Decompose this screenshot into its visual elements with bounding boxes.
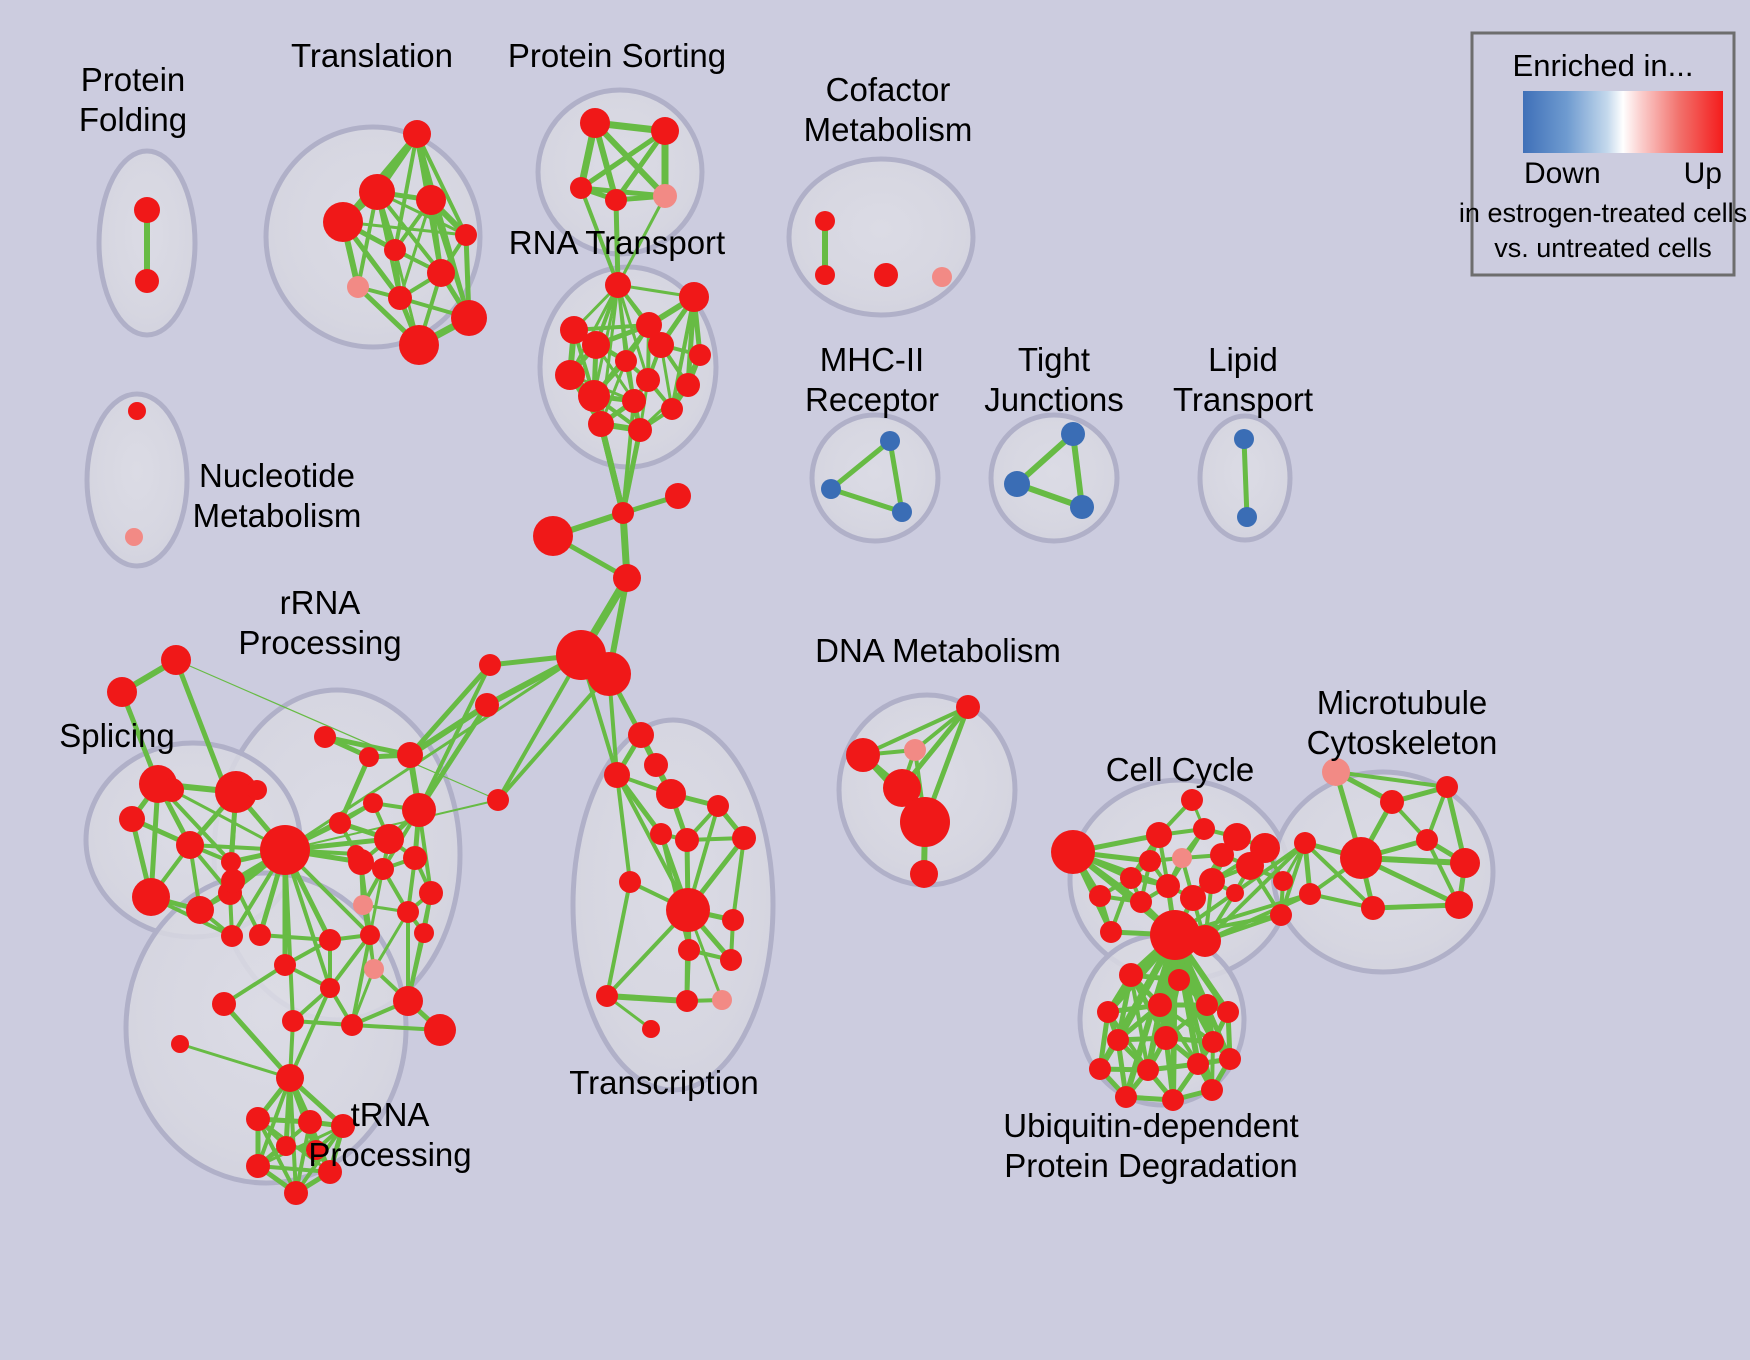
network-node[interactable] (1217, 1001, 1239, 1023)
network-node[interactable] (125, 528, 143, 546)
network-node[interactable] (582, 331, 610, 359)
network-node[interactable] (533, 516, 573, 556)
network-node[interactable] (956, 695, 980, 719)
network-node[interactable] (1100, 921, 1122, 943)
network-node[interactable] (628, 722, 654, 748)
network-node[interactable] (605, 272, 631, 298)
network-node[interactable] (1061, 422, 1085, 446)
legend-low-label: Down (1524, 157, 1601, 190)
network-node[interactable] (134, 197, 160, 223)
network-node[interactable] (821, 479, 841, 499)
cluster-label-translation: Translation (291, 37, 453, 74)
network-node[interactable] (1236, 852, 1264, 880)
network-node[interactable] (402, 793, 436, 827)
network-node[interactable] (1380, 790, 1404, 814)
cluster-label-dna-metabolism: DNA Metabolism (815, 632, 1061, 669)
network-node[interactable] (892, 502, 912, 522)
network-node[interactable] (212, 992, 236, 1016)
network-node[interactable] (319, 929, 341, 951)
network-node[interactable] (1097, 1001, 1119, 1023)
network-node[interactable] (1237, 507, 1257, 527)
network-node[interactable] (403, 120, 431, 148)
network-node[interactable] (1089, 885, 1111, 907)
network-node[interactable] (1201, 1079, 1223, 1101)
network-node[interactable] (1051, 830, 1095, 874)
network-node[interactable] (1115, 1086, 1137, 1108)
network-node[interactable] (1340, 837, 1382, 879)
network-node[interactable] (419, 881, 443, 905)
network-node[interactable] (363, 793, 383, 813)
network-node[interactable] (1146, 822, 1172, 848)
network-node[interactable] (815, 211, 835, 231)
network-node[interactable] (1107, 1029, 1129, 1051)
network-node[interactable] (712, 990, 732, 1010)
network-node[interactable] (171, 1035, 189, 1053)
network-node[interactable] (555, 360, 585, 390)
network-node[interactable] (648, 332, 674, 358)
network-node[interactable] (320, 978, 340, 998)
network-node[interactable] (1168, 969, 1190, 991)
network-node[interactable] (580, 108, 610, 138)
network-node[interactable] (880, 431, 900, 451)
network-node[interactable] (388, 286, 412, 310)
network-node[interactable] (676, 990, 698, 1012)
network-node[interactable] (587, 652, 631, 696)
network-node[interactable] (186, 896, 214, 924)
network-node[interactable] (249, 924, 271, 946)
network-node[interactable] (135, 269, 159, 293)
network-node[interactable] (132, 878, 170, 916)
network-node[interactable] (246, 1107, 270, 1131)
network-node[interactable] (707, 795, 729, 817)
network-node[interactable] (298, 1110, 322, 1134)
network-figure: ProteinFoldingTranslationProtein Sorting… (0, 0, 1750, 1360)
network-node[interactable] (1270, 904, 1292, 926)
network-node[interactable] (384, 239, 406, 261)
network-node[interactable] (284, 1181, 308, 1205)
network-node[interactable] (846, 738, 880, 772)
network-node[interactable] (619, 871, 641, 893)
network-node[interactable] (161, 645, 191, 675)
network-node[interactable] (644, 753, 668, 777)
network-node[interactable] (1130, 891, 1152, 913)
network-node[interactable] (678, 939, 700, 961)
network-node[interactable] (1193, 818, 1215, 840)
network-node[interactable] (347, 276, 369, 298)
network-node[interactable] (1137, 1059, 1159, 1081)
edge (1244, 439, 1247, 517)
network-node[interactable] (676, 373, 700, 397)
network-node[interactable] (260, 825, 310, 875)
cluster-label-transcription: Transcription (569, 1064, 759, 1101)
cluster-label-splicing: Splicing (59, 717, 175, 754)
network-node[interactable] (414, 923, 434, 943)
network-node[interactable] (650, 823, 672, 845)
network-node[interactable] (1219, 1048, 1241, 1070)
network-node[interactable] (615, 350, 637, 372)
network-node[interactable] (314, 726, 336, 748)
network-node[interactable] (397, 742, 423, 768)
network-node[interactable] (374, 824, 404, 854)
network-node[interactable] (653, 184, 677, 208)
network-node[interactable] (399, 325, 439, 365)
network-node[interactable] (1120, 867, 1142, 889)
network-node[interactable] (720, 949, 742, 971)
network-node[interactable] (874, 263, 898, 287)
network-node[interactable] (1226, 884, 1244, 902)
network-node[interactable] (416, 185, 446, 215)
legend-caption-line1: in estrogen-treated cells (1459, 198, 1747, 228)
network-node[interactable] (107, 677, 137, 707)
network-node[interactable] (1294, 832, 1316, 854)
network-node[interactable] (221, 869, 245, 893)
legend-caption-line2: vs. untreated cells (1494, 233, 1712, 263)
network-node[interactable] (904, 739, 926, 761)
network-node[interactable] (221, 852, 241, 872)
network-node[interactable] (570, 177, 592, 199)
network-node[interactable] (1004, 471, 1030, 497)
network-node[interactable] (372, 858, 394, 880)
network-node[interactable] (1202, 1031, 1224, 1053)
network-node[interactable] (353, 895, 373, 915)
legend-title: Enriched in... (1513, 48, 1694, 83)
network-node[interactable] (1234, 429, 1254, 449)
network-node[interactable] (636, 368, 660, 392)
network-node[interactable] (1210, 843, 1234, 867)
network-node[interactable] (359, 747, 379, 767)
network-node[interactable] (1089, 1058, 1111, 1080)
network-node[interactable] (1299, 883, 1321, 905)
network-node[interactable] (1445, 891, 1473, 919)
network-node[interactable] (628, 418, 652, 442)
network-node[interactable] (1139, 850, 1161, 872)
network-node[interactable] (1181, 789, 1203, 811)
network-node[interactable] (604, 762, 630, 788)
network-node[interactable] (1196, 994, 1218, 1016)
network-node[interactable] (247, 780, 267, 800)
network-node[interactable] (675, 828, 699, 852)
network-node[interactable] (341, 1014, 363, 1036)
network-node[interactable] (596, 985, 618, 1007)
cluster-ellipse-cofactor-metabolism[interactable] (789, 159, 973, 315)
network-node[interactable] (282, 1010, 304, 1032)
network-node[interactable] (427, 259, 455, 287)
legend-color-bar (1523, 91, 1723, 153)
network-node[interactable] (276, 1136, 296, 1156)
network-node[interactable] (1172, 848, 1192, 868)
network-node[interactable] (329, 812, 351, 834)
cluster-label-rna-transport: RNA Transport (509, 224, 725, 261)
network-node[interactable] (1187, 1053, 1209, 1075)
network-node[interactable] (1189, 925, 1221, 957)
cluster-label-protein-sorting: Protein Sorting (508, 37, 726, 74)
network-node[interactable] (665, 483, 691, 509)
network-node[interactable] (451, 300, 487, 336)
network-node[interactable] (160, 778, 184, 802)
network-node[interactable] (666, 888, 710, 932)
network-node[interactable] (246, 1154, 270, 1178)
network-node[interactable] (225, 784, 243, 802)
network-node[interactable] (642, 1020, 660, 1038)
network-node[interactable] (1156, 874, 1180, 898)
network-node[interactable] (424, 1014, 456, 1046)
network-node[interactable] (397, 901, 419, 923)
network-node[interactable] (274, 954, 296, 976)
network-node[interactable] (1436, 776, 1458, 798)
network-node[interactable] (900, 797, 950, 847)
network-node[interactable] (1180, 885, 1206, 911)
network-node[interactable] (689, 344, 711, 366)
network-canvas: ProteinFoldingTranslationProtein Sorting… (0, 0, 1750, 1360)
network-node[interactable] (393, 986, 423, 1016)
network-node[interactable] (656, 779, 686, 809)
network-node[interactable] (1361, 896, 1385, 920)
cluster-label-cell-cycle: Cell Cycle (1106, 751, 1255, 788)
network-node[interactable] (1416, 829, 1438, 851)
network-node[interactable] (732, 826, 756, 850)
network-node[interactable] (347, 845, 365, 863)
network-node[interactable] (1450, 848, 1480, 878)
legend-panel: Enriched in... Down Up in estrogen-treat… (1459, 33, 1747, 275)
network-node[interactable] (588, 411, 614, 437)
network-node[interactable] (1154, 1026, 1178, 1050)
network-node[interactable] (359, 174, 395, 210)
network-node[interactable] (578, 380, 610, 412)
network-node[interactable] (487, 789, 509, 811)
network-node[interactable] (910, 860, 938, 888)
network-node[interactable] (276, 1064, 304, 1092)
network-node[interactable] (403, 846, 427, 870)
network-node[interactable] (1119, 963, 1143, 987)
network-node[interactable] (651, 117, 679, 145)
network-node[interactable] (815, 265, 835, 285)
legend-high-label: Up (1684, 157, 1722, 190)
network-node[interactable] (479, 654, 501, 676)
network-node[interactable] (128, 402, 146, 420)
network-node[interactable] (605, 189, 627, 211)
network-node[interactable] (1273, 871, 1293, 891)
network-node[interactable] (1070, 495, 1094, 519)
network-node[interactable] (661, 398, 683, 420)
network-node[interactable] (221, 925, 243, 947)
network-node[interactable] (622, 389, 646, 413)
network-node[interactable] (119, 806, 145, 832)
network-node[interactable] (455, 224, 477, 246)
network-node[interactable] (679, 282, 709, 312)
network-node[interactable] (722, 909, 744, 931)
network-node[interactable] (176, 831, 204, 859)
cluster-ellipse-mhc-ii-receptor[interactable] (812, 415, 938, 541)
network-node[interactable] (364, 959, 384, 979)
network-node[interactable] (612, 502, 634, 524)
network-node[interactable] (1322, 758, 1350, 786)
network-node[interactable] (475, 693, 499, 717)
network-node[interactable] (613, 564, 641, 592)
network-node[interactable] (1148, 993, 1172, 1017)
network-node[interactable] (323, 202, 363, 242)
network-node[interactable] (932, 267, 952, 287)
network-node[interactable] (360, 925, 380, 945)
